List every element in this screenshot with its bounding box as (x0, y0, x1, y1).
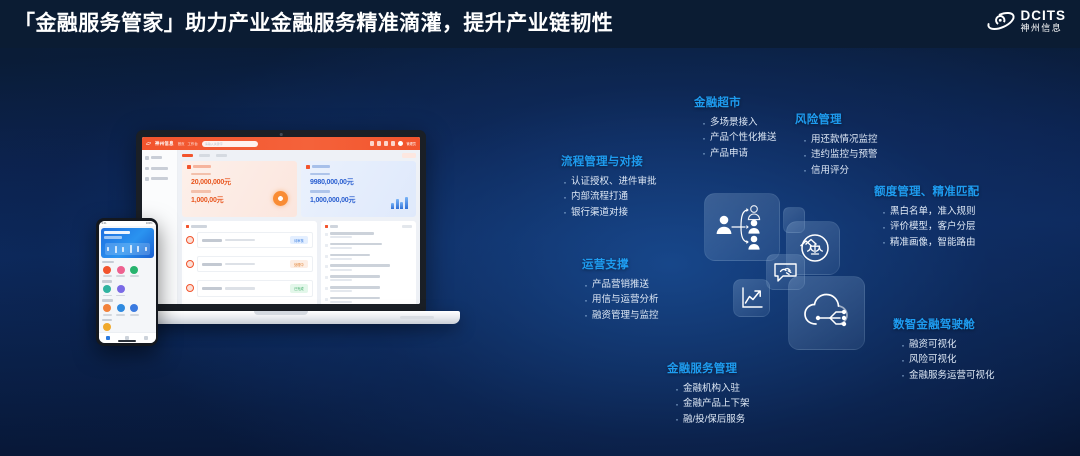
status-badge: 处理中 (290, 260, 308, 268)
list-item[interactable] (325, 286, 412, 292)
card-icon (187, 165, 191, 169)
list-item: 黑白名单，准入规则 (880, 204, 979, 219)
dashboard-search-placeholder: 请输入关键字 (205, 142, 223, 146)
phone-icon-5[interactable] (102, 304, 113, 315)
phone-icon-7[interactable] (129, 304, 140, 315)
status-badge: 已完成 (290, 284, 308, 292)
list-item: 金融产品上下架 (673, 396, 750, 411)
callout-list: 金融机构入驻 金融产品上下架 融/投/保后服务 (673, 381, 750, 427)
phone-clock: 9:41 (102, 222, 107, 225)
online-apply-icon (117, 304, 125, 312)
grid-icon[interactable] (370, 141, 374, 145)
phone-icon-0[interactable] (102, 266, 113, 277)
list-item: 金融机构入驻 (673, 381, 750, 396)
slide-header: 「金融服务管家」助力产业金融服务精准滴灌，提升产业链韧性 DCITS 神州信息 (0, 0, 1080, 48)
callout-financial-service-management: 金融服务管理 金融机构入驻 金融产品上下架 融/投/保后服务 (673, 360, 750, 427)
status-badge: 待审核 (290, 236, 308, 244)
dashboard-topbar: 神州信息 首页 工作台 请输入关键字 (142, 137, 420, 150)
laptop-screen: 神州信息 首页 工作台 请输入关键字 (142, 137, 420, 304)
phone-icon-3[interactable] (102, 285, 113, 296)
card-icon (306, 165, 310, 169)
phone-screen: 9:41 100% (99, 221, 156, 343)
logo-cn-text: 神州信息 (1021, 24, 1067, 33)
list-item: 产品营销推送 (582, 277, 659, 292)
step-dot-icon (186, 284, 194, 292)
callout-list: 黑白名单，准入规则 评价模型，客户分层 精准画像，智能路由 (880, 204, 979, 250)
avatar[interactable] (398, 141, 403, 146)
phone-icon-6[interactable] (115, 304, 126, 315)
dashboard-body: 20,000,000元 1,000,00元 9980,000,00元 (142, 150, 420, 304)
phone-group-0 (99, 261, 156, 277)
dashboard-logo-icon (146, 141, 151, 146)
tab-all[interactable] (182, 154, 193, 157)
callout-list: 认证授权、进件审批 内部流程打通 银行渠道对接 (561, 174, 657, 220)
callout-title: 额度管理、精准匹配 (874, 183, 979, 199)
dashboard-action-button[interactable] (402, 153, 416, 158)
upload-icon (117, 285, 125, 293)
dashboard-search-input[interactable]: 请输入关键字 (202, 141, 258, 147)
doc-icon (325, 265, 328, 268)
laptop-camera-icon (280, 133, 283, 136)
table-row[interactable]: 处理中 (186, 256, 313, 272)
phone-icon-2[interactable] (129, 266, 140, 277)
callout-title: 风险管理 (795, 111, 878, 127)
growth-chart-icon (740, 286, 764, 310)
list-item: 风险可视化 (899, 352, 995, 367)
callout-operations-support: 运营支撑 产品营销推送 用信与运营分析 融资管理与监控 (582, 256, 659, 323)
product-icon (103, 304, 111, 312)
phone-home-indicator (118, 340, 136, 342)
list-item: 产品个性化推送 (700, 130, 777, 145)
growth-chart-tile (733, 279, 770, 317)
apply-icon (103, 266, 111, 274)
list-item[interactable] (325, 275, 412, 281)
brand-logo: DCITS 神州信息 (986, 8, 1067, 34)
list-item: 融资可视化 (899, 337, 995, 352)
laptop-notch (254, 311, 308, 315)
stat-card-financing-overview: 20,000,000元 1,000,00元 (182, 161, 297, 217)
list-item[interactable] (325, 232, 412, 238)
callout-list: 多场景接入 产品个性化推送 产品申请 (700, 115, 777, 161)
people-network-icon (713, 203, 771, 251)
dashboard-brand: 神州信息 (155, 141, 174, 147)
list-item: 违约监控与预警 (801, 147, 878, 162)
callout-list: 融资可视化 风险可视化 金融服务运营可视化 (899, 337, 995, 383)
people-network-tile (704, 193, 780, 261)
dashboard-panels: 待审核 处理中 已完成 (182, 221, 416, 304)
callout-list: 产品营销推送 用信与运营分析 融资管理与监控 (582, 277, 659, 323)
dashboard-main: 20,000,000元 1,000,00元 9980,000,00元 (178, 150, 420, 304)
list-item: 用还款情况监控 (801, 132, 878, 147)
phone-status-bar: 9:41 100% (99, 221, 156, 226)
finance-icon (145, 167, 149, 171)
list-item[interactable] (325, 297, 412, 303)
phone-battery: 100% (146, 222, 153, 225)
list-item[interactable] (325, 243, 412, 249)
phone-icon-1[interactable] (115, 266, 126, 277)
stat-value-2: 9980,000,00元 (310, 177, 411, 187)
icon-tile-cluster (700, 190, 880, 360)
phone-hero-stats (105, 243, 150, 255)
device-mockups: 神州信息 首页 工作台 请输入关键字 (96, 130, 456, 360)
tab-mine[interactable] (216, 154, 227, 157)
sidebar-item-2[interactable] (145, 177, 174, 181)
list-item: 银行渠道对接 (561, 205, 657, 220)
callout-title: 金融超市 (694, 94, 777, 110)
risk-alert-icon (130, 304, 138, 312)
stat-cards: 20,000,000元 1,000,00元 9980,000,00元 (182, 161, 416, 217)
list-item[interactable] (325, 254, 412, 260)
sidebar-item-0[interactable] (145, 156, 174, 160)
tab-home-icon[interactable] (106, 336, 110, 340)
panel-icon (186, 225, 189, 228)
list-item: 精准画像，智能路由 (880, 235, 979, 250)
cloud-computing-tile (788, 276, 865, 350)
panel-icon (325, 225, 328, 228)
help-icon[interactable] (384, 141, 388, 145)
callout-title: 运营支撑 (582, 256, 659, 272)
phone-icon-4[interactable] (115, 285, 126, 296)
verify-icon (103, 285, 111, 293)
dashboard-icon (103, 323, 111, 331)
list-item: 内部流程打通 (561, 189, 657, 204)
list-item: 金融服务运营可视化 (899, 368, 995, 383)
panel-notifications (321, 221, 416, 304)
business-icon (145, 177, 149, 181)
step-dot-icon (186, 236, 194, 244)
stat-card-financing-stats: 9980,000,00元 1,000,000,00元 (301, 161, 416, 217)
dashboard-menu[interactable]: 首页 工作台 (178, 141, 198, 146)
list-item: 融/投/保后服务 (673, 412, 750, 427)
dashboard-topbar-actions[interactable]: 管理员 (370, 141, 416, 146)
callout-title: 流程管理与对接 (561, 153, 657, 169)
list-item[interactable] (325, 264, 412, 270)
callout-digital-finance-cockpit: 数智金融驾驶舱 融资可视化 风险可视化 金融服务运营可视化 (899, 316, 995, 383)
logo-en-text: DCITS (1021, 9, 1067, 23)
list-item: 认证授权、进件审批 (561, 174, 657, 189)
sidebar-item-1[interactable] (145, 167, 174, 171)
bar-chart-icon (391, 197, 408, 209)
list-item: 多场景接入 (700, 115, 777, 130)
bell-icon[interactable] (377, 141, 381, 145)
credit-icon (117, 266, 125, 274)
doc-icon (325, 276, 328, 279)
list-item: 融资管理与监控 (582, 308, 659, 323)
doc-icon (325, 287, 328, 290)
table-row[interactable]: 待审核 (186, 232, 313, 248)
phone-group-1 (99, 280, 156, 296)
callout-financial-mall: 金融超市 多场景接入 产品个性化推送 产品申请 (700, 94, 777, 161)
dcits-swirl-icon (986, 8, 1016, 34)
phone-hero-banner (101, 228, 154, 258)
dashboard-app: 神州信息 首页 工作台 请输入关键字 (142, 137, 420, 304)
home-icon (145, 156, 149, 160)
laptop-mockup: 神州信息 首页 工作台 请输入关键字 (136, 130, 426, 312)
callout-title: 数智金融驾驶舱 (893, 316, 995, 332)
step-dot-icon (186, 260, 194, 268)
cloud-computing-icon (802, 292, 852, 334)
stat-value-0: 20,000,000元 (191, 177, 292, 187)
doc-icon (325, 233, 328, 236)
tab-todo[interactable] (199, 154, 210, 157)
callout-title: 金融服务管理 (667, 360, 750, 376)
ring-decoration-icon (273, 191, 288, 206)
dashboard-username: 管理员 (406, 141, 416, 146)
list-item: 产品申请 (700, 146, 777, 161)
phone-group-2 (99, 299, 156, 315)
settings-icon[interactable] (391, 141, 395, 145)
table-row[interactable]: 已完成 (186, 280, 313, 296)
dashboard-tabs[interactable] (182, 153, 416, 158)
callout-quota-management: 额度管理、精准匹配 黑白名单，准入规则 评价模型，客户分层 精准画像，智能路由 (880, 183, 979, 250)
dashboard-menu-item-0[interactable]: 首页 (178, 141, 185, 146)
callout-risk-management: 风险管理 用还款情况监控 违约监控与预警 信用评分 (801, 111, 878, 178)
phone-mockup: 9:41 100% (96, 218, 158, 346)
slide-canvas: 「金融服务管家」助力产业金融服务精准滴灌，提升产业链韧性 DCITS 神州信息 (0, 0, 1080, 456)
list-item: 信用评分 (801, 163, 878, 178)
callout-list: 用还款情况监控 违约监控与预警 信用评分 (801, 132, 878, 178)
doc-icon (325, 255, 328, 258)
panel-business-flow: 待审核 处理中 已完成 (182, 221, 317, 304)
list-item: 评价模型，客户分层 (880, 219, 979, 234)
laptop-foot (400, 316, 434, 319)
callout-flow-management: 流程管理与对接 认证授权、进件审批 内部流程打通 银行渠道对接 (561, 153, 657, 220)
doc-icon (325, 298, 328, 301)
page-title: 「金融服务管家」助力产业金融服务精准滴灌，提升产业链韧性 (14, 7, 613, 37)
tab-mine-icon[interactable] (144, 336, 148, 340)
loan-icon (130, 266, 138, 274)
doc-icon (325, 244, 328, 247)
dashboard-menu-item-1[interactable]: 工作台 (188, 141, 198, 146)
list-item: 用信与运营分析 (582, 292, 659, 307)
